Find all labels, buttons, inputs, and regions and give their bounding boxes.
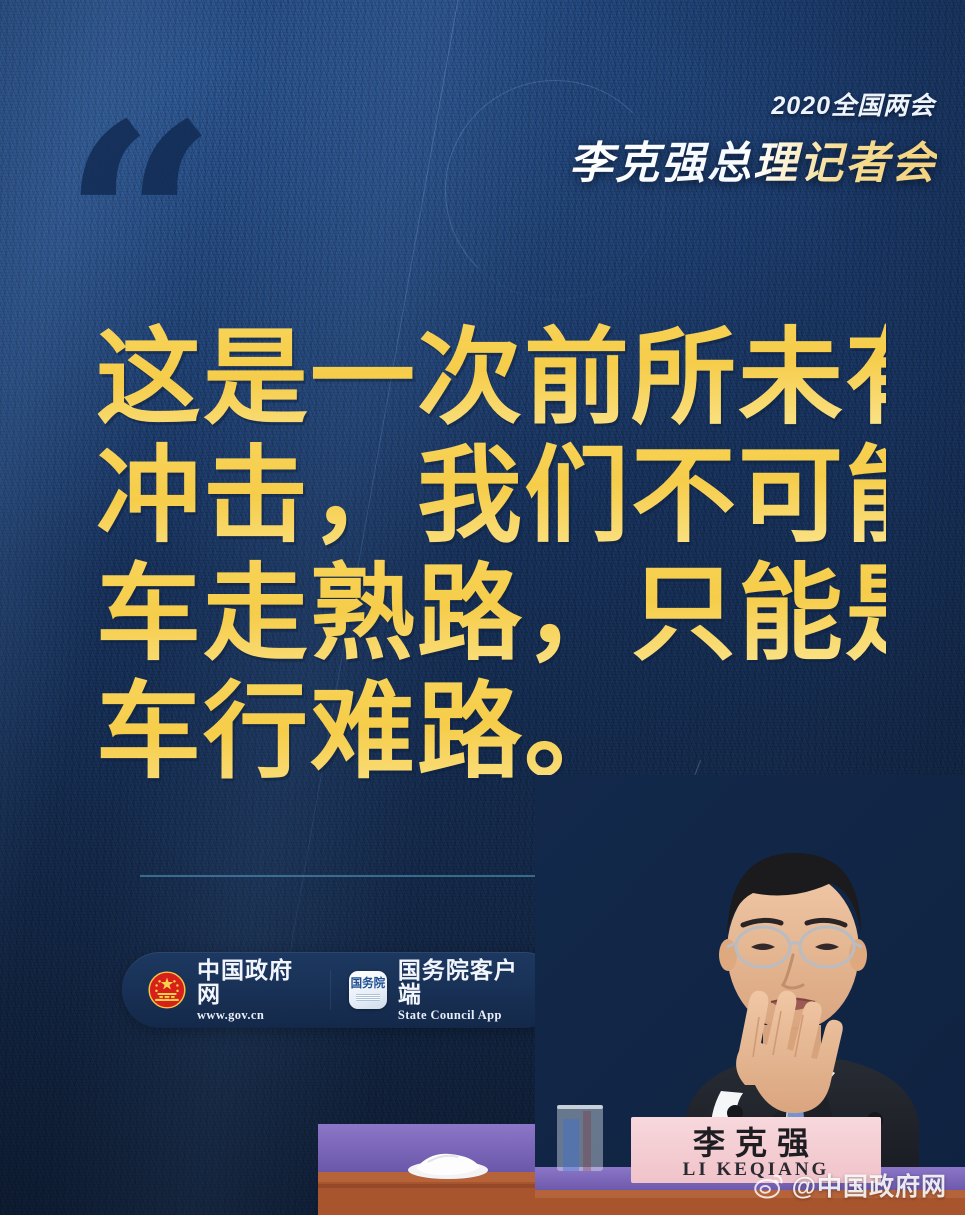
header-kicker: 2020全国两会 <box>569 86 935 122</box>
nameplate-name-cn: 李克强 <box>693 1125 819 1161</box>
gov-portal-name-cn: 中国政府网 <box>197 958 312 1006</box>
quote-line: 车行难路。 <box>96 672 886 790</box>
footer-divider <box>330 970 331 1010</box>
state-council-app-name-en: State Council App <box>398 1009 536 1022</box>
header-title-block: 2020全国两会 李克强总理记者会 <box>569 86 937 191</box>
weibo-handle: @中国政府网 <box>792 1167 947 1203</box>
quote-line: 冲击，我们不可能轻 <box>96 436 886 554</box>
quote-line: 车走熟路，只能是大 <box>96 554 886 672</box>
quote-block: 这是一次前所未有的 冲击，我们不可能轻 车走熟路，只能是大 车行难路。 <box>96 318 886 790</box>
gov-portal-brand[interactable]: 中国政府网 www.gov.cn <box>148 958 312 1021</box>
national-emblem-icon <box>148 971 186 1009</box>
state-council-app-icon-lines <box>356 994 380 1001</box>
state-council-app-brand[interactable]: 国务院 国务院客户端 State Council App <box>349 958 536 1021</box>
state-council-app-icon: 国务院 <box>349 971 387 1009</box>
footer-brand-bar: 中国政府网 www.gov.cn 国务院 国务院客户端 State Counci… <box>122 952 562 1028</box>
premier-photo: 李克强 LI KEQIANG <box>535 775 965 1215</box>
quote-line: 这是一次前所未有的 <box>96 318 886 436</box>
page-title: 李克强总理记者会 <box>569 127 937 191</box>
gov-portal-name-en: www.gov.cn <box>197 1009 312 1022</box>
weibo-watermark: @中国政府网 <box>754 1167 947 1203</box>
state-council-app-name-cn: 国务院客户端 <box>398 958 536 1006</box>
state-council-app-icon-label: 国务院 <box>351 979 386 991</box>
poster-canvas: “ 2020全国两会 李克强总理记者会 这是一次前所未有的 冲击，我们不可能轻 … <box>0 0 965 1215</box>
weibo-icon <box>754 1170 784 1200</box>
